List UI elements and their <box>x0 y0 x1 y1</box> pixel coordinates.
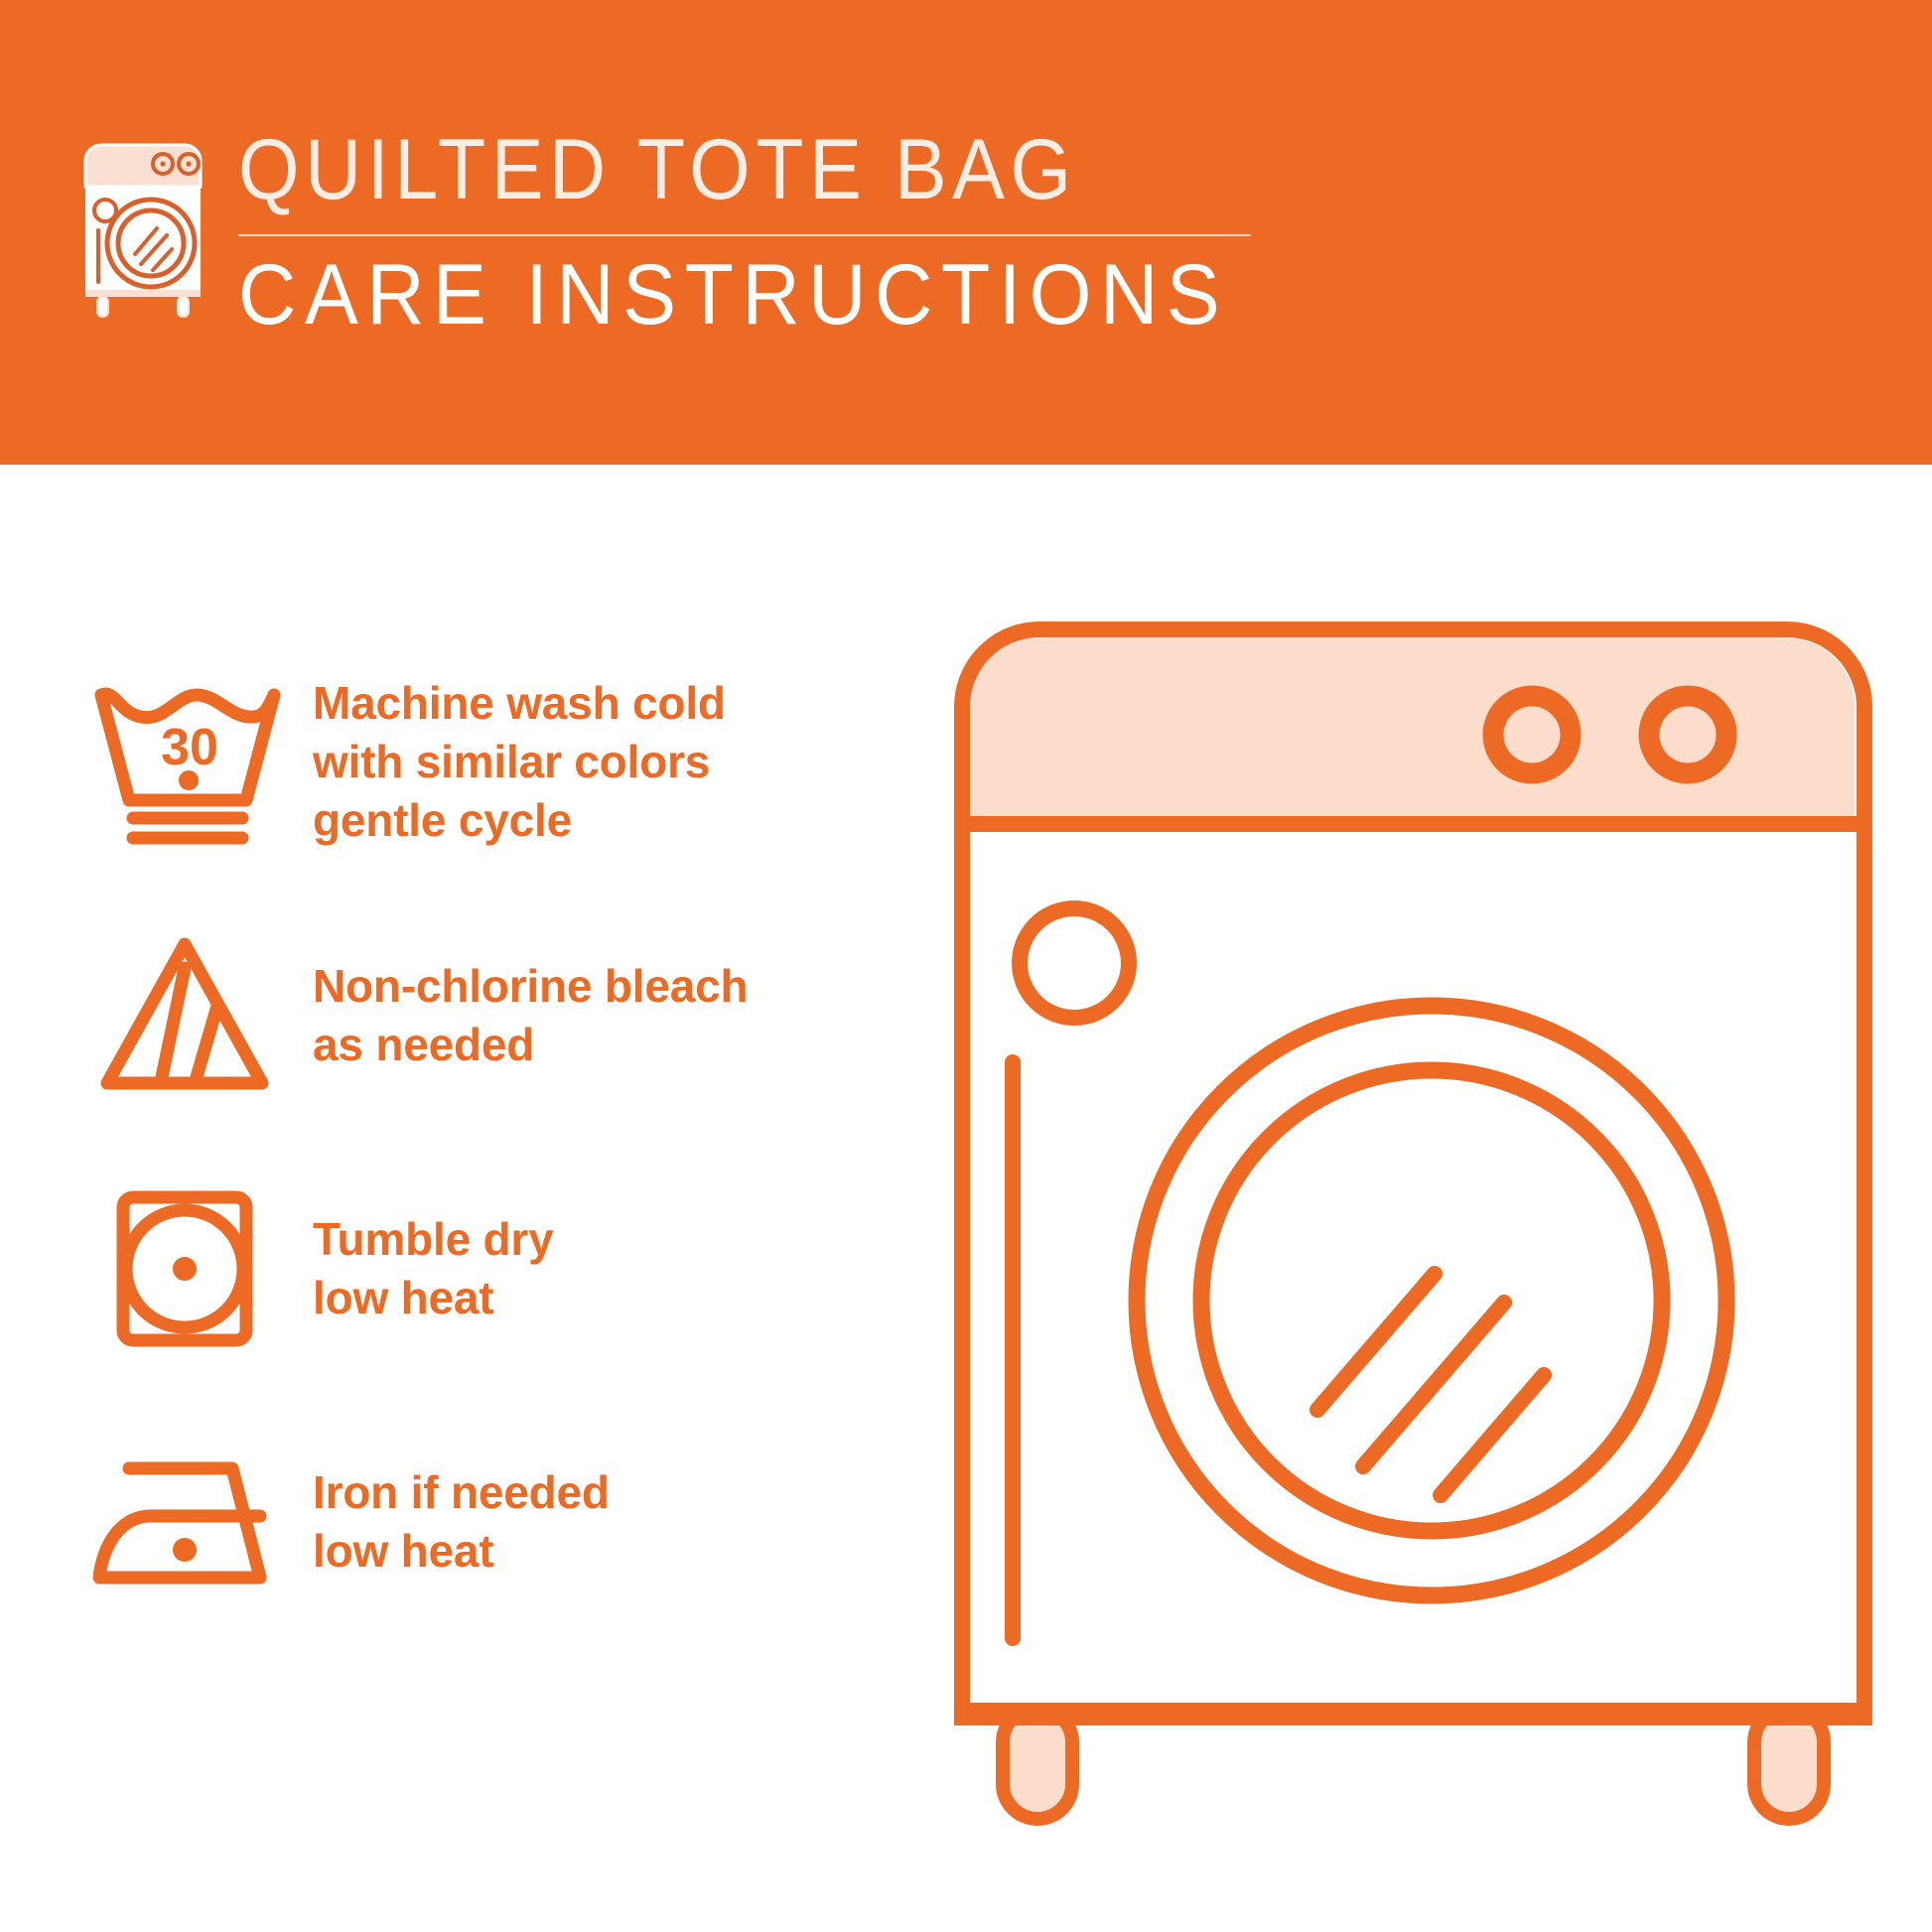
header-content: QUILTED TOTE BAG CARE INSTRUCTIONS <box>77 127 1292 338</box>
care-text-iron: Iron if needed low heat <box>313 1463 610 1581</box>
tumble-dry-low-heat-icon <box>77 1179 291 1358</box>
tumble-dry-heat-dot <box>173 1257 197 1281</box>
title-divider <box>238 234 1251 236</box>
page-subtitle: CARE INSTRUCTIONS <box>238 252 1228 338</box>
care-row-iron: Iron if needed low heat <box>0 1395 953 1648</box>
care-row-machine-wash: 30 Machine wash cold with similar colors… <box>0 635 953 889</box>
care-text-machine-wash: Machine wash cold with similar colors ge… <box>313 674 726 850</box>
care-row-bleach: Non-chlorine bleach as needed <box>0 889 953 1142</box>
care-instructions-poster: QUILTED TOTE BAG CARE INSTRUCTIONS <box>0 0 1932 1932</box>
wash-heat-dot <box>179 770 199 790</box>
iron-low-heat-icon <box>77 1433 291 1611</box>
washing-machine-illustration <box>948 616 1876 1857</box>
wash-temperature-label: 30 <box>161 719 218 776</box>
page-title: QUILTED TOTE BAG <box>238 127 1207 212</box>
care-row-tumble-dry: Tumble dry low heat <box>0 1142 953 1395</box>
care-text-tumble-dry: Tumble dry low heat <box>313 1210 554 1327</box>
non-chlorine-bleach-triangle-icon <box>77 926 291 1105</box>
care-text-bleach: Non-chlorine bleach as needed <box>313 957 748 1074</box>
washing-machine-icon <box>77 131 208 320</box>
header-titles: QUILTED TOTE BAG CARE INSTRUCTIONS <box>238 127 1292 338</box>
wash-tub-30-gentle-icon: 30 <box>77 673 291 852</box>
header-banner: QUILTED TOTE BAG CARE INSTRUCTIONS <box>0 0 1932 465</box>
iron-heat-dot <box>173 1538 197 1562</box>
care-instruction-list: 30 Machine wash cold with similar colors… <box>0 635 953 1648</box>
